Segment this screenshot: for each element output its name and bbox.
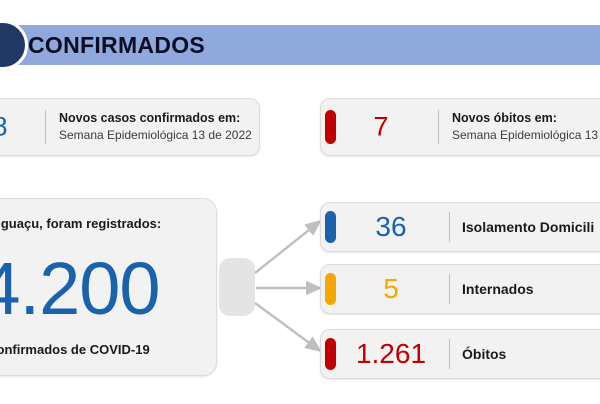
- new-cases-label-block: Novos casos confirmados em: Semana Epide…: [59, 110, 252, 144]
- obitos-value: 1.261: [339, 338, 443, 370]
- total-confirmed-card: do Iguaçu, foram registrados: 4.200 conf…: [0, 198, 217, 376]
- new-cases-subtitle: Semana Epidemiológica 13 de 2022: [59, 127, 252, 144]
- total-footer: confirmados de COVID-19: [0, 342, 216, 357]
- arrow-to-obitos: [255, 303, 319, 350]
- breakdown-row-obitos: 1.261 Óbitos: [320, 329, 600, 379]
- isolamento-value: 36: [339, 211, 443, 243]
- total-heading: do Iguaçu, foram registrados:: [0, 216, 216, 231]
- breakdown-row-internados: 5 Internados: [320, 264, 600, 314]
- new-deaths-subtitle: Semana Epidemiológica 13: [452, 127, 598, 144]
- arrow-to-isolamento: [255, 222, 319, 273]
- new-deaths-title: Novos óbitos em:: [452, 110, 598, 127]
- internados-value: 5: [339, 273, 443, 305]
- new-cases-title: Novos casos confirmados em:: [59, 110, 252, 127]
- new-cases-divider: [45, 110, 46, 144]
- new-deaths-value: 7: [339, 112, 423, 143]
- new-deaths-label-block: Novos óbitos em: Semana Epidemiológica 1…: [452, 110, 598, 144]
- isolamento-label: Isolamento Domicili: [462, 219, 594, 235]
- page-title: CONFIRMADOS: [28, 25, 205, 65]
- obitos-accent-bar: [325, 338, 336, 370]
- breakdown-row-isolamento-domiciliar: 36 Isolamento Domicili: [320, 202, 600, 252]
- new-deaths-card: 7 Novos óbitos em: Semana Epidemiológica…: [320, 98, 600, 156]
- new-cases-value: 8: [0, 112, 39, 143]
- internados-accent-bar: [325, 273, 336, 305]
- new-cases-card: 8 Novos casos confirmados em: Semana Epi…: [0, 98, 260, 156]
- header-bar: CONFIRMADOS: [0, 25, 600, 65]
- internados-divider: [449, 274, 450, 304]
- connector-knob: [219, 258, 255, 316]
- total-number: 4.200: [0, 246, 216, 332]
- new-deaths-accent-bar: [325, 110, 336, 144]
- obitos-divider: [449, 339, 450, 369]
- filled-circle-badge-icon: [0, 20, 28, 70]
- isolamento-accent-bar: [325, 211, 336, 243]
- internados-label: Internados: [462, 281, 534, 297]
- obitos-label: Óbitos: [462, 346, 506, 362]
- new-deaths-divider: [438, 110, 439, 144]
- isolamento-divider: [449, 212, 450, 242]
